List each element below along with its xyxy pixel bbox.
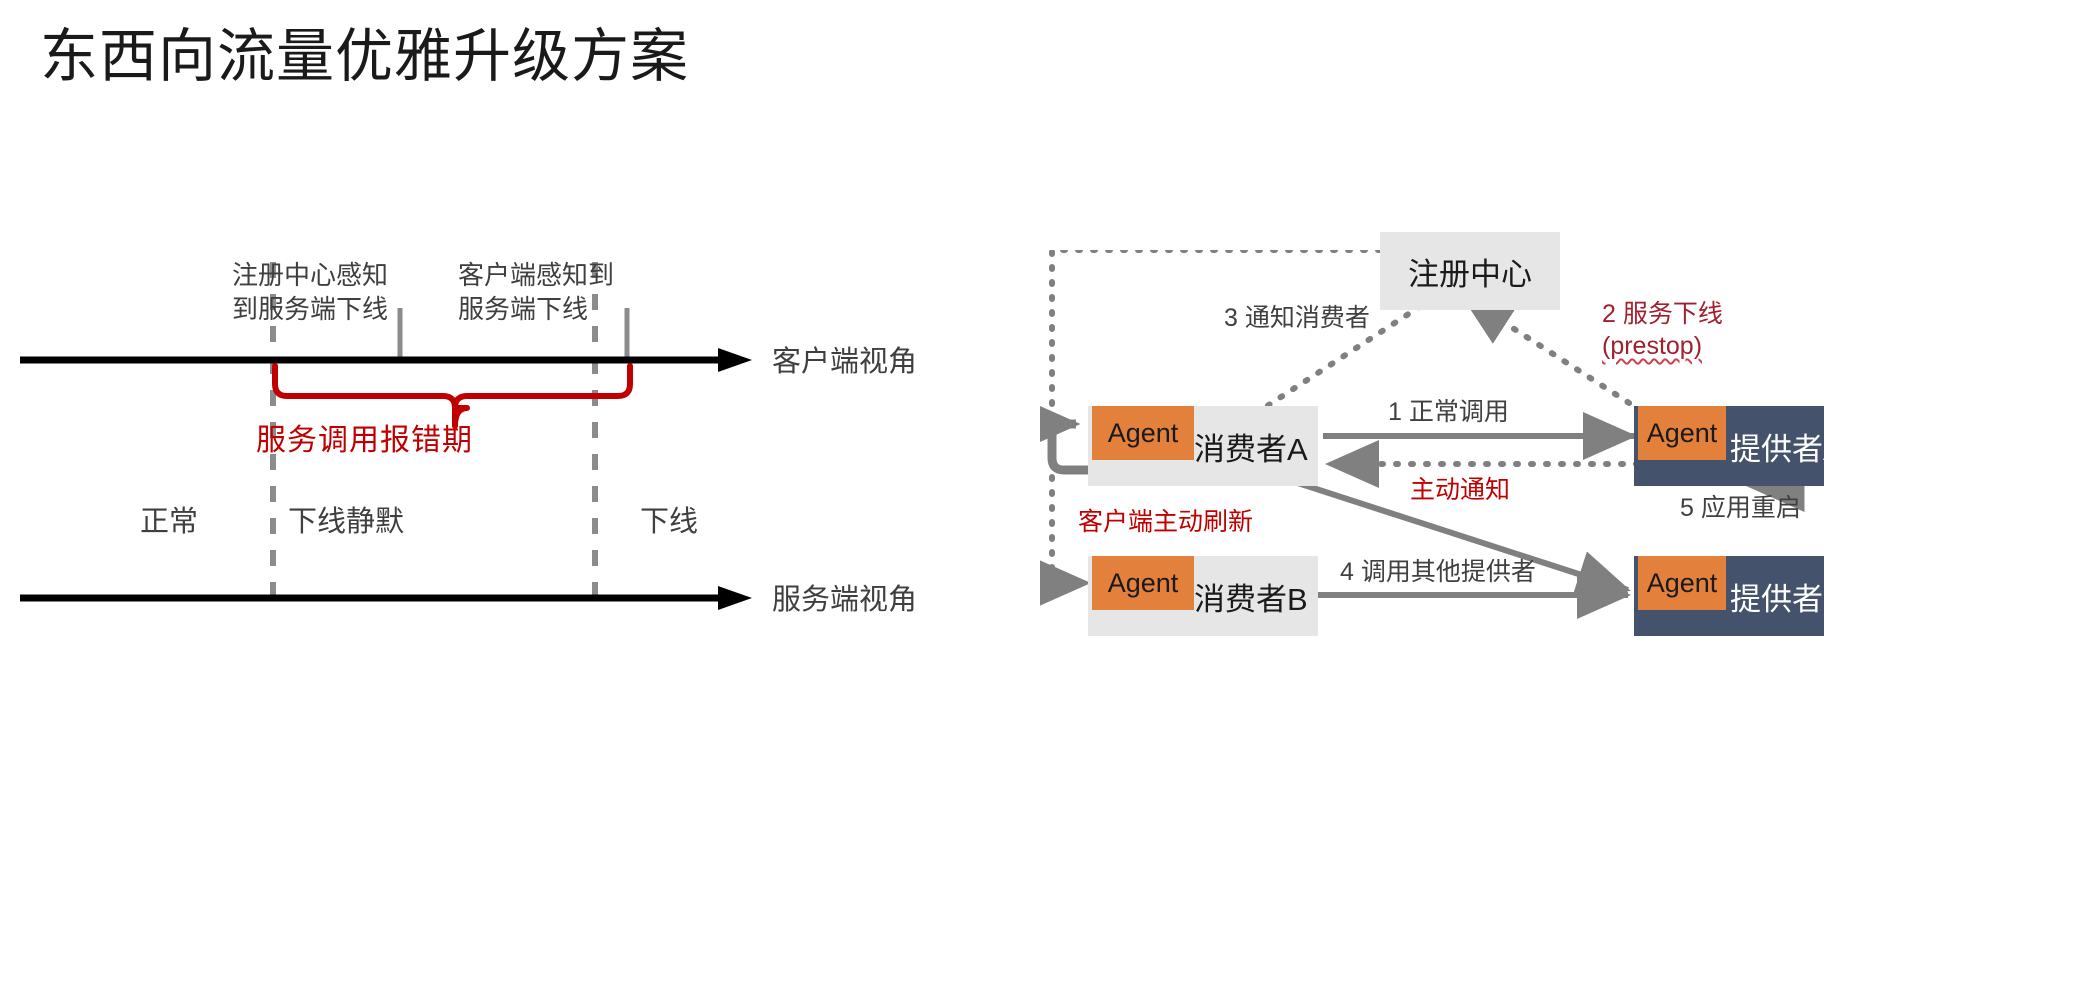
node-consumer-b-label: 消费者B (1194, 574, 1308, 619)
architecture-diagram: 注册中心 Agent 消费者A Agent 提供者A Agent 消费者B (1040, 250, 2082, 890)
server-axis-line (20, 586, 752, 610)
agent-chip-consumer-b[interactable]: Agent (1092, 556, 1194, 610)
node-consumer-b[interactable]: Agent 消费者B (1088, 556, 1318, 636)
edge-label-step4: 4 调用其他提供者 (1340, 556, 1536, 588)
timeline-phase-offline: 下线 (640, 498, 698, 540)
timeline-note-registry-aware: 注册中心感知 到服务端下线 (232, 258, 388, 326)
node-provider-b[interactable]: Agent 提供者B (1634, 556, 1824, 636)
timeline-phase-normal: 正常 (140, 498, 198, 540)
edge-label-step1: 1 正常调用 (1388, 396, 1509, 428)
agent-chip-provider-a[interactable]: Agent (1638, 406, 1726, 460)
node-consumer-a[interactable]: Agent 消费者A (1088, 406, 1318, 486)
loop-client-refresh-path (1052, 424, 1088, 470)
timeline-error-window-label: 服务调用报错期 (256, 415, 473, 459)
agent-chip-consumer-a[interactable]: Agent (1092, 406, 1194, 460)
slide-canvas: 东西向流量优雅升级方案 注册中心感 (0, 0, 2082, 1008)
page-title: 东西向流量优雅升级方案 (40, 18, 689, 96)
timeline-note-client-aware: 客户端感知到 服务端下线 (458, 258, 614, 326)
agent-chip-provider-b-label: Agent (1647, 568, 1718, 599)
agent-chip-consumer-b-label: Agent (1108, 568, 1179, 599)
edge-label-push-notify: 主动通知 (1410, 474, 1510, 506)
timeline-axis-label-client: 客户端视角 (772, 338, 917, 380)
client-axis-line (20, 348, 752, 372)
timeline-axis-label-server: 服务端视角 (772, 576, 917, 618)
node-provider-a[interactable]: Agent 提供者A (1634, 406, 1824, 486)
node-registry[interactable]: 注册中心 (1380, 232, 1560, 310)
edge-label-client-refresh: 客户端主动刷新 (1078, 506, 1253, 538)
agent-chip-consumer-a-label: Agent (1108, 418, 1179, 449)
edge-label-step2-line1: 2 服务下线 (1602, 298, 1723, 330)
edge-label-step2-line2: (prestop) (1602, 330, 1702, 362)
agent-chip-provider-b[interactable]: Agent (1638, 556, 1726, 610)
timeline-diagram: 注册中心感知 到服务端下线 客户端感知到 服务端下线 服务调用报错期 正常 下线… (0, 250, 1020, 870)
node-provider-a-label: 提供者A (1730, 424, 1844, 469)
node-consumer-a-label: 消费者A (1194, 424, 1308, 469)
node-registry-label: 注册中心 (1408, 249, 1532, 294)
edge-label-step3: 3 通知消费者 (1224, 302, 1370, 334)
agent-chip-provider-a-label: Agent (1647, 418, 1718, 449)
edge-label-step5: 5 应用重启 (1680, 492, 1801, 524)
node-provider-b-label: 提供者B (1730, 574, 1844, 619)
timeline-phase-silent: 下线静默 (288, 498, 404, 540)
